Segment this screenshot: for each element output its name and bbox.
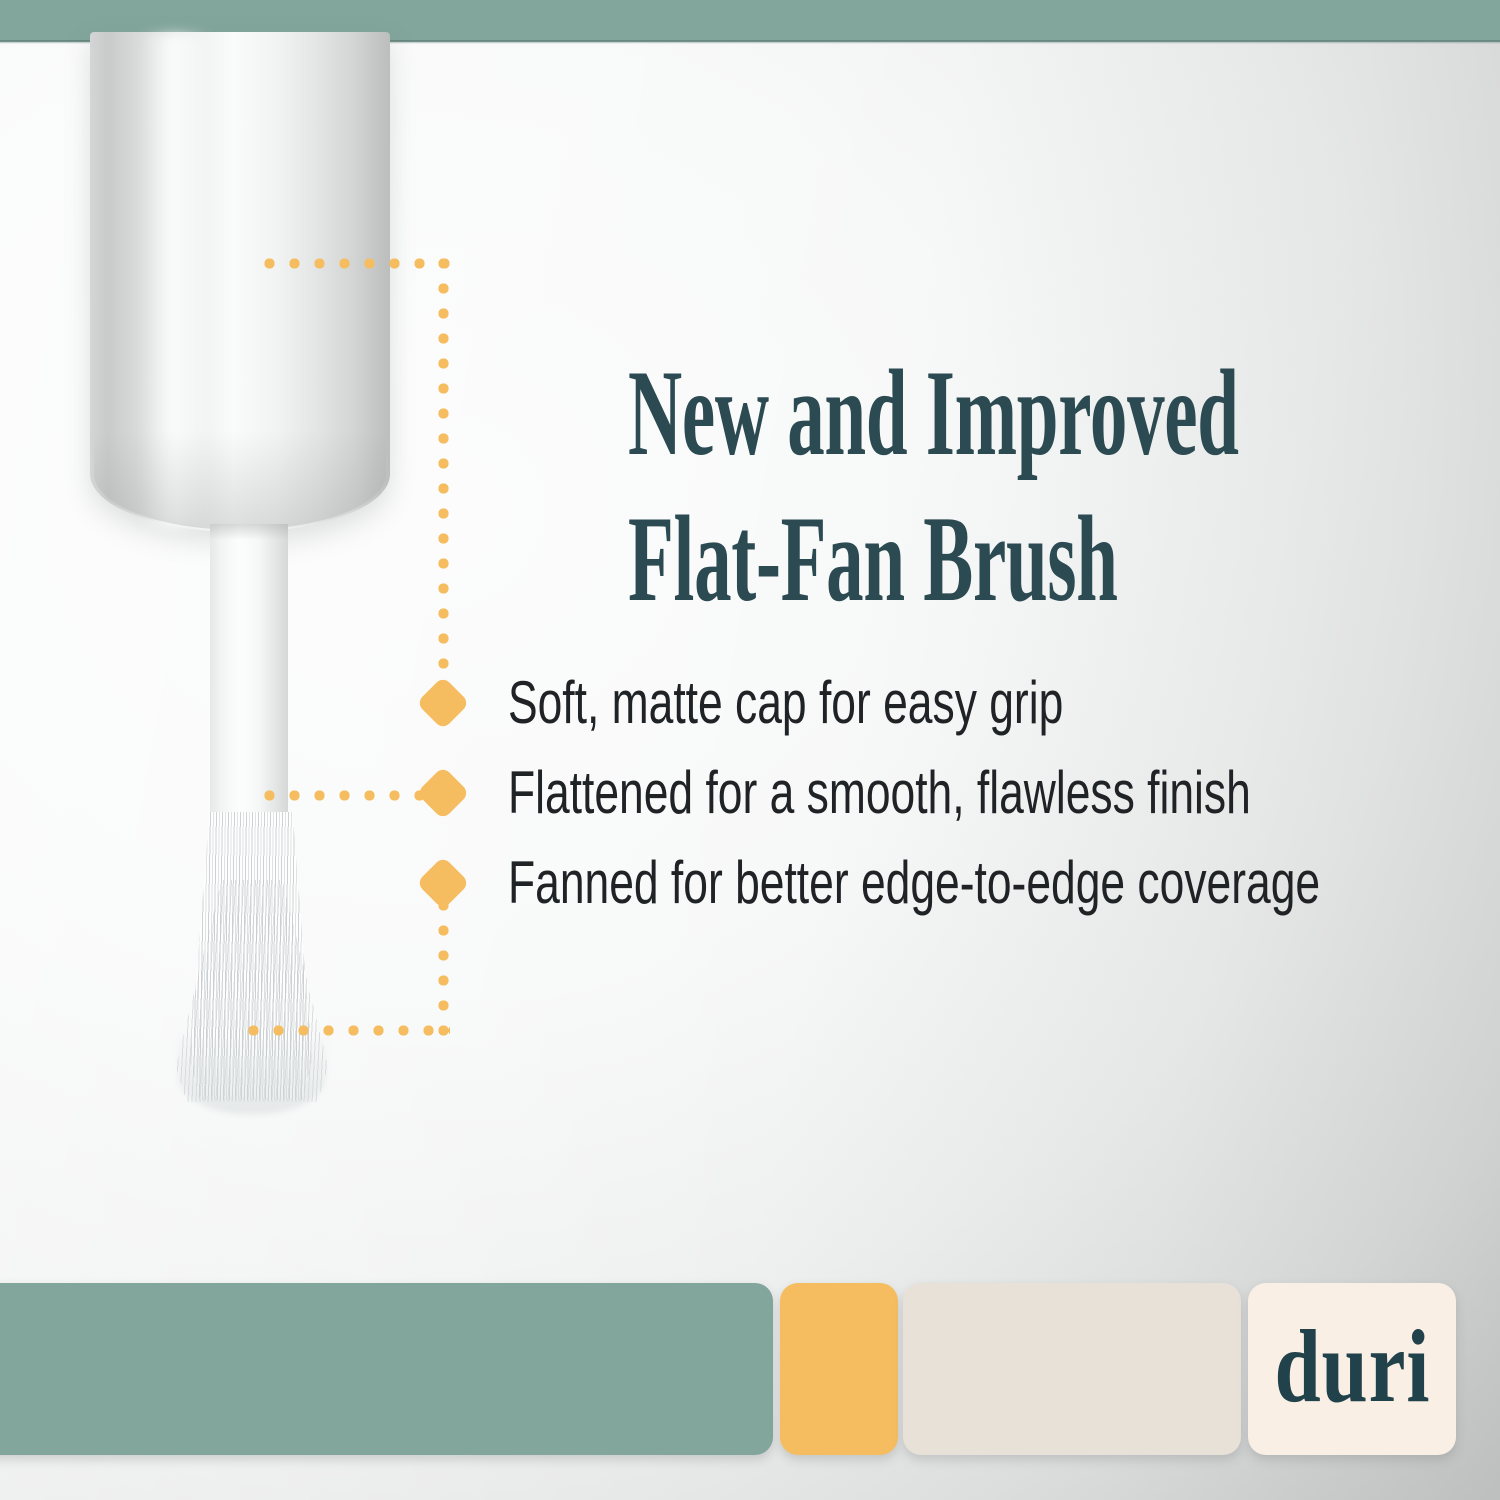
headline-line-1: New and Improved — [628, 344, 1239, 481]
feature-text-cap: Soft, matte cap for easy grip — [508, 668, 1063, 738]
footer-color-bar: duri — [0, 1283, 1500, 1500]
connector-flattened-horizontal — [264, 790, 430, 801]
brush-handle — [210, 524, 288, 816]
brush-product-image — [0, 0, 560, 1160]
list-item: Soft, matte cap for easy grip — [424, 668, 1464, 758]
brand-logo: duri — [1248, 1283, 1456, 1455]
product-feature-graphic: New and Improved Flat-Fan Brush Soft, ma… — [0, 0, 1500, 1500]
footer-block-sage — [0, 1283, 773, 1455]
diamond-bullet-icon — [416, 856, 470, 910]
headline-line-2: Flat-Fan Brush — [628, 486, 1116, 631]
connector-cap-vertical — [438, 258, 449, 698]
feature-text-fanned: Fanned for better edge-to-edge coverage — [508, 848, 1320, 918]
page-title: New and Improved Flat-Fan Brush — [628, 340, 1116, 630]
feature-list: Soft, matte cap for easy grip Flattened … — [424, 668, 1464, 938]
list-item: Flattened for a smooth, flawless finish — [424, 758, 1464, 848]
brush-handle-shadow — [210, 524, 288, 540]
diamond-bullet-icon — [416, 676, 470, 730]
connector-fanned-horizontal — [248, 1025, 450, 1036]
feature-text-flattened: Flattened for a smooth, flawless finish — [508, 758, 1251, 828]
footer-block-beige — [903, 1283, 1241, 1455]
diamond-bullet-icon — [416, 766, 470, 820]
brush-bristles-tip — [178, 1030, 326, 1114]
footer-block-amber — [780, 1283, 898, 1455]
list-item: Fanned for better edge-to-edge coverage — [424, 848, 1464, 938]
connector-cap-horizontal — [264, 258, 450, 269]
brand-logo-text: duri — [1274, 1315, 1430, 1419]
